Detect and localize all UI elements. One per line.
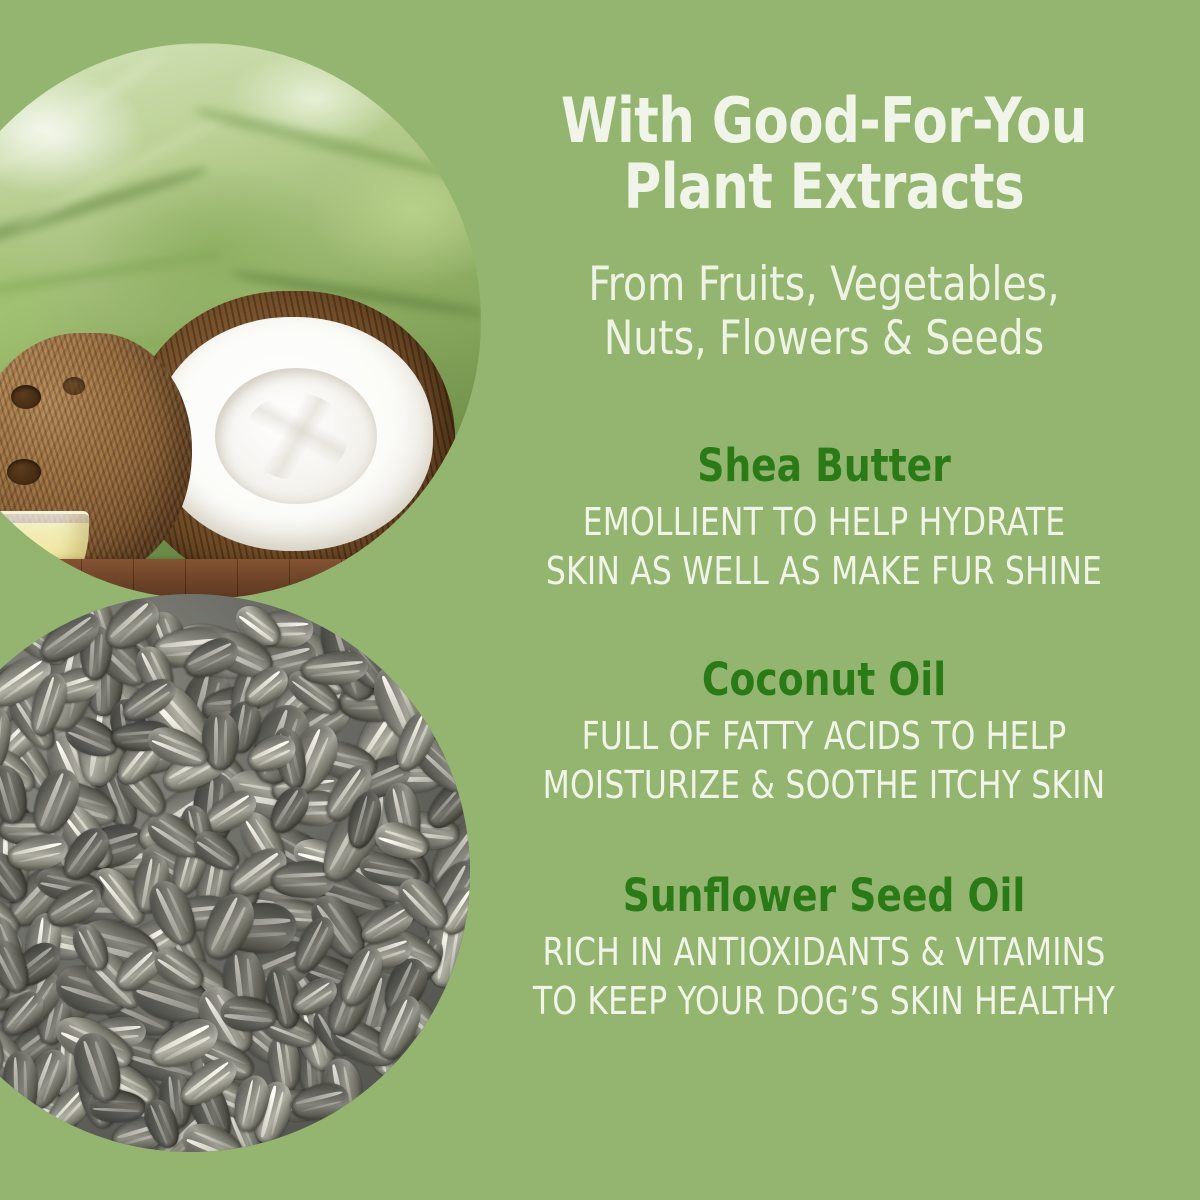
- headline-line-1: With Good-For-You: [495, 88, 1154, 154]
- sunflower-seed-pile: [0, 594, 470, 1152]
- headline-line-2: Plant Extracts: [495, 154, 1154, 220]
- subheadline-line-2: Nuts, Flowers & Seeds: [491, 312, 1157, 366]
- ingredient-description: EMOLLIENT TO HELP HYDRATE SKIN AS WELL A…: [495, 498, 1154, 595]
- headline: With Good-For-You Plant Extracts: [495, 88, 1154, 221]
- sunflower-seeds-photo: [0, 594, 470, 1152]
- ingredient-description: RICH IN ANTIOXIDANTS & VITAMINS TO KEEP …: [495, 928, 1154, 1025]
- ingredient-description-line-1: RICH IN ANTIOXIDANTS & VITAMINS: [495, 928, 1154, 977]
- coconut-eye: [63, 377, 85, 395]
- ingredient-block-sunflower-seed-oil: Sunflower Seed Oil RICH IN ANTIOXIDANTS …: [466, 873, 1182, 1025]
- coconut-eye: [7, 459, 41, 485]
- wooden-surface: [0, 559, 481, 599]
- ingredient-benefits-poster: With Good-For-You Plant Extracts From Fr…: [0, 0, 1200, 1200]
- photo-column: [0, 0, 480, 1200]
- subheadline-line-1: From Fruits, Vegetables,: [491, 258, 1157, 312]
- ingredient-block-coconut-oil: Coconut Oil FULL OF FATTY ACIDS TO HELP …: [466, 657, 1182, 809]
- ingredient-description-line-2: TO KEEP YOUR DOG’S SKIN HEALTHY: [495, 977, 1154, 1026]
- sunflower-seed: [2, 1050, 39, 1121]
- coconut-cavity: [215, 368, 377, 504]
- ingredient-description-line-2: SKIN AS WELL AS MAKE FUR SHINE: [495, 547, 1154, 596]
- ingredient-description-line-2: MOISTURIZE & SOOTHE ITCHY SKIN: [495, 761, 1154, 810]
- coconut-photo: [0, 43, 481, 599]
- coconut-eye: [11, 385, 41, 409]
- ingredient-block-shea-butter: Shea Butter EMOLLIENT TO HELP HYDRATE SK…: [466, 443, 1182, 595]
- ingredient-name: Shea Butter: [491, 443, 1157, 488]
- text-column: With Good-For-You Plant Extracts From Fr…: [466, 0, 1182, 1200]
- ingredient-description-line-1: FULL OF FATTY ACIDS TO HELP: [495, 712, 1154, 761]
- ingredient-name: Coconut Oil: [491, 657, 1157, 702]
- subheadline: From Fruits, Vegetables, Nuts, Flowers &…: [491, 258, 1157, 365]
- sunflower-seed: [202, 711, 239, 769]
- coconut-flesh: [153, 317, 433, 551]
- ingredient-description-line-1: EMOLLIENT TO HELP HYDRATE: [495, 498, 1154, 547]
- ingredient-name: Sunflower Seed Oil: [491, 873, 1157, 918]
- ingredient-description: FULL OF FATTY ACIDS TO HELP MOISTURIZE &…: [495, 712, 1154, 809]
